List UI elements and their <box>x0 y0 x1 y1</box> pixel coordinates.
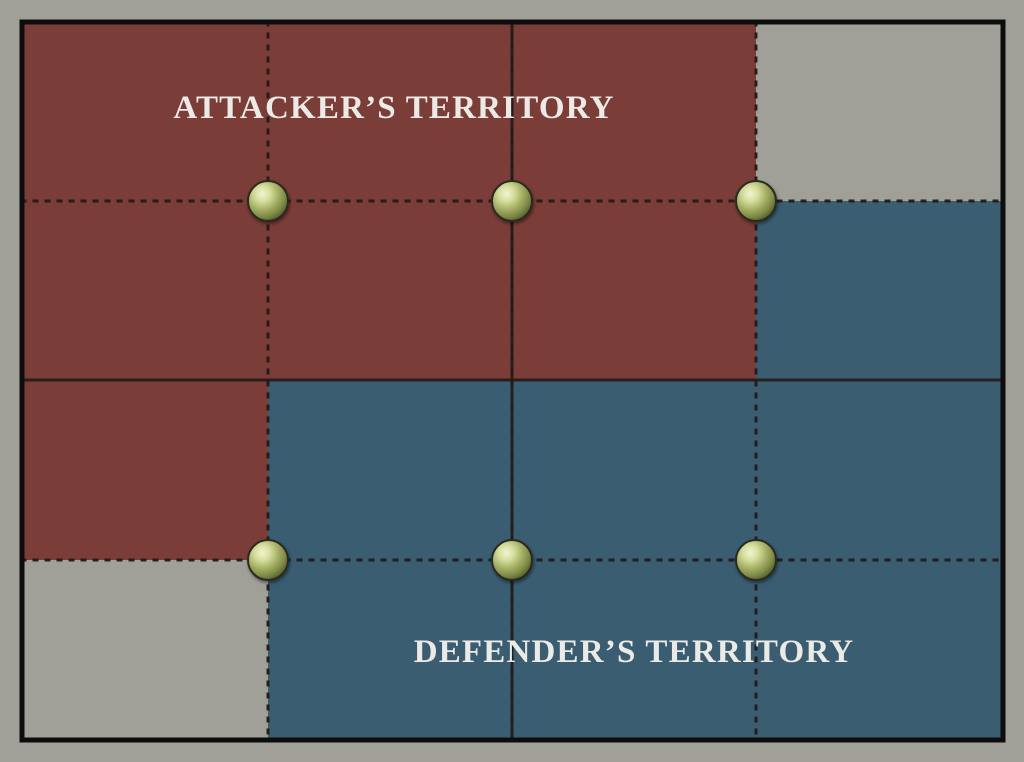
marker-sphere-icon[interactable] <box>492 181 532 221</box>
attacker-territory-label: ATTACKER’S TERRITORY <box>173 90 614 126</box>
marker-sphere-icon[interactable] <box>736 181 776 221</box>
marker-sphere-icon[interactable] <box>736 540 776 580</box>
neutral-zone-top-right <box>756 22 1003 201</box>
marker-sphere-icon[interactable] <box>248 540 288 580</box>
board-container: ATTACKER’S TERRITORY DEFENDER’S TERRITOR… <box>0 0 1024 762</box>
marker-sphere-icon[interactable] <box>248 181 288 221</box>
marker-node[interactable] <box>492 181 532 221</box>
neutral-zone-bottom-left <box>22 560 268 740</box>
marker-node[interactable] <box>736 540 776 580</box>
marker-node[interactable] <box>492 540 532 580</box>
marker-sphere-icon[interactable] <box>492 540 532 580</box>
marker-node[interactable] <box>736 181 776 221</box>
marker-node[interactable] <box>248 540 288 580</box>
marker-node[interactable] <box>248 181 288 221</box>
defender-territory-label: DEFENDER’S TERRITORY <box>414 634 855 670</box>
territory-board-svg: ATTACKER’S TERRITORY DEFENDER’S TERRITOR… <box>0 0 1024 762</box>
